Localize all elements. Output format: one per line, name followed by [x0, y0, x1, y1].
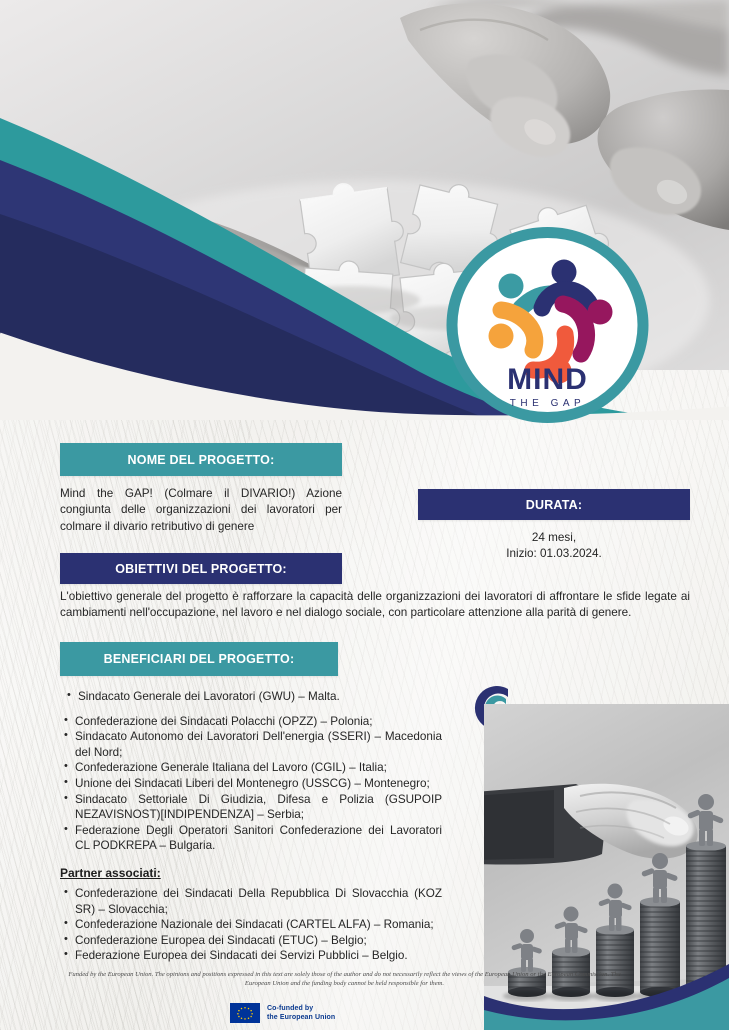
eu-funding-label: Co-funded by the European Union — [267, 1004, 335, 1022]
beneficiari-list-item: Confederazione Generale Italiana del Lav… — [62, 760, 442, 776]
eu-funding-badge: Co-funded by the European Union — [230, 1003, 335, 1023]
funding-disclaimer: Funded by the European Union. The opinio… — [62, 970, 627, 989]
beneficiari-list-item: Unione dei Sindacati Liberi del Monteneg… — [62, 776, 442, 792]
partner-associati-heading: Partner associati: — [60, 866, 161, 880]
section-heading-obiettivi: OBIETTIVI DEL PROGETTO: — [60, 553, 342, 584]
eu-flag-icon — [230, 1003, 260, 1023]
section-heading-beneficiari: BENEFICIARI DEL PROGETTO: — [60, 642, 338, 676]
beneficiari-list-item: Federazione Degli Operatori Sanitori Con… — [62, 823, 442, 854]
partner-list-item: Confederazione Nazionale dei Sindacati (… — [62, 917, 442, 933]
beneficiari-list-item: Confederazione dei Sindacati Polacchi (O… — [62, 714, 442, 730]
beneficiari-list-item: Sindacato Settoriale Di Giudizia, Difesa… — [62, 792, 442, 823]
section-heading-beneficiari-label: BENEFICIARI DEL PROGETTO: — [104, 652, 295, 666]
eu-label-line-1: Co-funded by — [267, 1004, 335, 1013]
bottom-right-waves — [470, 950, 729, 1030]
section-heading-durata: DURATA: — [418, 489, 690, 520]
section-heading-nome: NOME DEL PROGETTO: — [60, 443, 342, 476]
durata-line-2: Inizio: 01.03.2024. — [418, 546, 690, 562]
section-heading-obiettivi-label: OBIETTIVI DEL PROGETTO: — [115, 562, 287, 576]
partner-associati-list: Confederazione dei Sindacati Della Repub… — [62, 886, 442, 964]
section-heading-durata-label: DURATA: — [526, 498, 582, 512]
section-body-nome: Mind the GAP! (Colmare il DIVARIO!) Azio… — [60, 486, 342, 535]
section-body-obiettivi: L'obiettivo generale del progetto è raff… — [60, 589, 690, 622]
durata-line-1: 24 mesi, — [418, 530, 690, 546]
beneficiari-list-item: Sindacato Autonomo dei Lavoratori Dell'e… — [62, 729, 442, 760]
partner-list-item: Confederazione Europea dei Sindacati (ET… — [62, 933, 442, 949]
beneficiari-list: Sindacato Generale dei Lavoratori (GWU) … — [62, 689, 442, 854]
poster-content: NOME DEL PROGETTO: Mind the GAP! (Colmar… — [0, 0, 729, 1030]
section-heading-nome-label: NOME DEL PROGETTO: — [128, 453, 275, 467]
section-body-durata: 24 mesi, Inizio: 01.03.2024. — [418, 530, 690, 562]
poster-root: MIND THE GAP NOME DEL PROGETTO: Mind the… — [0, 0, 729, 1030]
eu-label-line-2: the European Union — [267, 1013, 335, 1022]
partner-list-item: Confederazione dei Sindacati Della Repub… — [62, 886, 442, 917]
beneficiari-list-item: Sindacato Generale dei Lavoratori (GWU) … — [62, 689, 442, 705]
partner-list-item: Federazione Europea dei Sindacati dei Se… — [62, 948, 442, 964]
